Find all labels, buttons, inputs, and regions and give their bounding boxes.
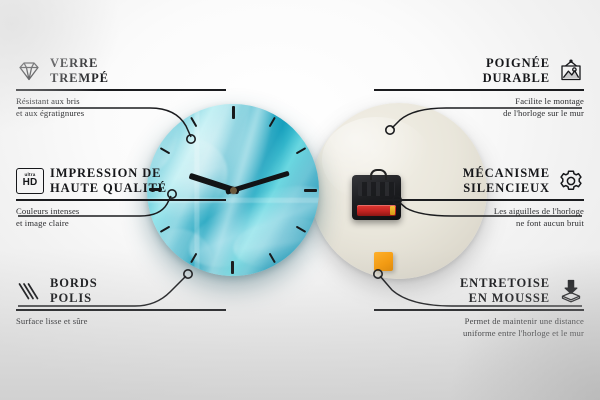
- gear-icon: [558, 168, 584, 194]
- arrow-down-stack-icon: [558, 278, 584, 304]
- feature-verre-trempe: VERRE TREMPÉ Résistant aux bris et aux é…: [16, 56, 226, 119]
- feature-bords-polis: BORDS POLIS Surface lisse et sûre: [16, 276, 226, 327]
- ultra-hd-badge-icon: ultra HD: [16, 168, 42, 194]
- hd-badge-main-text: HD: [23, 178, 38, 188]
- feature-subtitle: Résistant aux bris et aux égratignures: [16, 95, 226, 119]
- foam-spacer: [374, 252, 393, 271]
- diagonal-lines-icon: [16, 278, 42, 304]
- feature-rule: [16, 199, 226, 201]
- feature-subtitle: Permet de maintenir une distance uniform…: [374, 315, 584, 339]
- hanging-picture-frame-icon: [558, 58, 584, 84]
- feature-subtitle: Les aiguilles de l'horloge ne font aucun…: [374, 205, 584, 229]
- feature-header: VERRE TREMPÉ: [16, 56, 226, 86]
- feature-header: ultra HD IMPRESSION DE HAUTE QUALITÉ: [16, 166, 226, 196]
- feature-rule: [374, 89, 584, 91]
- feature-rule: [16, 89, 226, 91]
- feature-subtitle: Facilite le montage de l'horloge sur le …: [374, 95, 584, 119]
- feature-title: MÉCANISME SILENCIEUX: [463, 166, 550, 196]
- feature-header: MÉCANISME SILENCIEUX: [374, 166, 584, 196]
- diamond-icon: [16, 58, 42, 84]
- feature-mecanisme-silencieux: MÉCANISME SILENCIEUX Les aiguilles de l'…: [374, 166, 584, 229]
- feature-header: ENTRETOISE EN MOUSSE: [374, 276, 584, 306]
- feature-impression-haute-qualite: ultra HD IMPRESSION DE HAUTE QUALITÉ Cou…: [16, 166, 226, 229]
- feature-subtitle: Couleurs intenses et image claire: [16, 205, 226, 229]
- feature-entretoise-en-mousse: ENTRETOISE EN MOUSSE Permet de maintenir…: [374, 276, 584, 339]
- feature-header: BORDS POLIS: [16, 276, 226, 306]
- feature-header: POIGNÉE DURABLE: [374, 56, 584, 86]
- clock-center-cap: [230, 187, 237, 194]
- feature-rule: [16, 309, 226, 311]
- feature-rule: [374, 199, 584, 201]
- feature-title: ENTRETOISE EN MOUSSE: [460, 276, 550, 306]
- feature-rule: [374, 309, 584, 311]
- feature-poignee-durable: POIGNÉE DURABLE Facilite le montage de l…: [374, 56, 584, 119]
- infographic-canvas: VERRE TREMPÉ Résistant aux bris et aux é…: [0, 0, 600, 400]
- feature-subtitle: Surface lisse et sûre: [16, 315, 226, 327]
- feature-title: IMPRESSION DE HAUTE QUALITÉ: [50, 166, 167, 196]
- feature-title: POIGNÉE DURABLE: [483, 56, 550, 86]
- feature-title: VERRE TREMPÉ: [50, 56, 109, 86]
- feature-title: BORDS POLIS: [50, 276, 98, 306]
